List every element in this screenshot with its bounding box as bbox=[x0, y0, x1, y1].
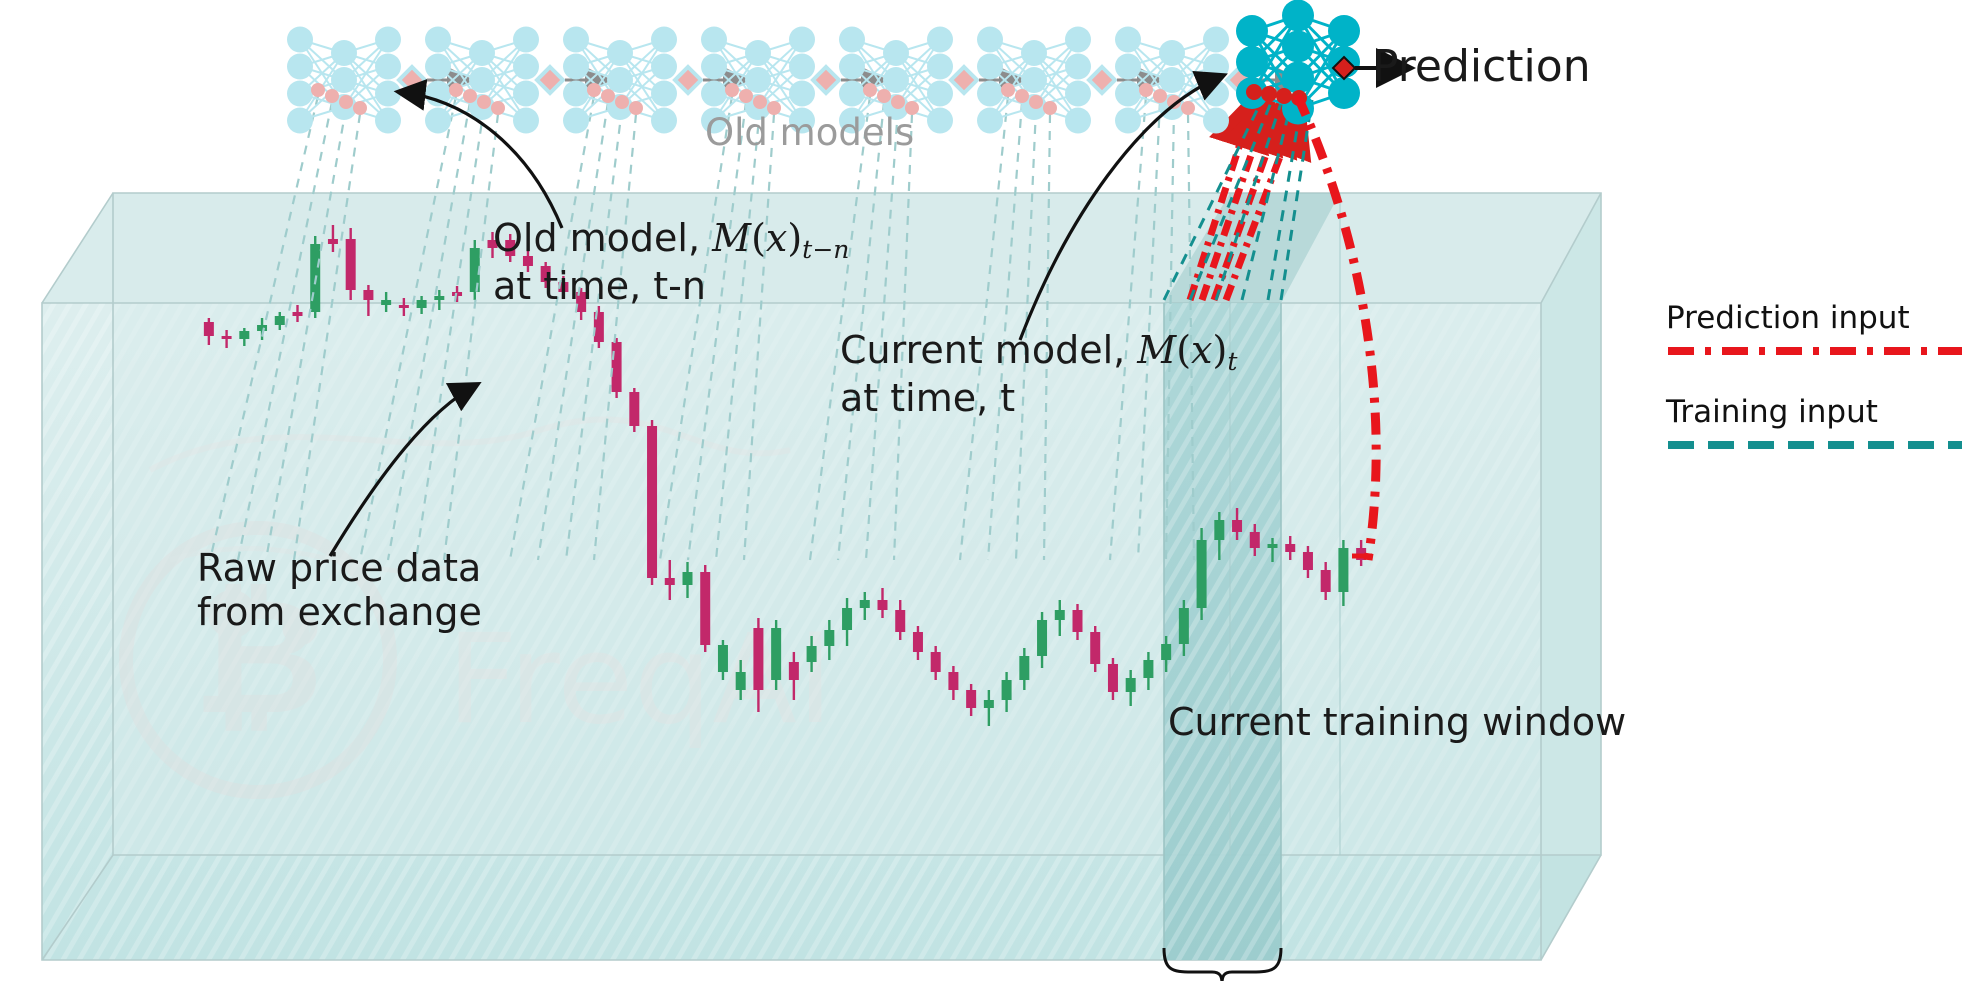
candle-body bbox=[363, 290, 373, 300]
candle-body bbox=[984, 700, 994, 708]
network-node bbox=[513, 54, 539, 80]
current-training-window-label: Current training window bbox=[1168, 700, 1626, 744]
diagram-svg: ₿ FreqAI bbox=[0, 0, 1966, 981]
candle-body bbox=[647, 426, 657, 578]
model-output-diamond bbox=[951, 67, 977, 93]
network-node bbox=[331, 40, 357, 66]
old-models-label: Old models bbox=[705, 112, 914, 155]
network-node bbox=[563, 108, 589, 134]
network-node bbox=[1159, 40, 1185, 66]
candle-body bbox=[771, 628, 781, 680]
network-node bbox=[789, 27, 815, 53]
network-node bbox=[513, 108, 539, 134]
network-node bbox=[1065, 54, 1091, 80]
network-input-dot bbox=[311, 83, 325, 97]
network-input-dot bbox=[325, 89, 339, 103]
candle-body bbox=[1108, 664, 1118, 692]
current-network-node bbox=[1328, 77, 1360, 109]
candle-body bbox=[718, 645, 728, 672]
candle-body bbox=[1161, 644, 1171, 660]
candle-body bbox=[1090, 632, 1100, 664]
network-node bbox=[1115, 81, 1141, 107]
network-node bbox=[789, 54, 815, 80]
current-model-text-a: Current model, bbox=[840, 328, 1137, 372]
prediction-label: Prediction bbox=[1372, 41, 1591, 92]
current-network-node bbox=[1236, 15, 1268, 47]
candle-body bbox=[1002, 680, 1012, 700]
old-model-math-sub: t−n bbox=[802, 235, 849, 264]
network-node bbox=[977, 108, 1003, 134]
current-network-node bbox=[1282, 31, 1314, 63]
raw-price-annotation: Raw price data from exchange bbox=[197, 546, 482, 634]
current-model-math-paren-close: ) bbox=[1212, 328, 1227, 372]
network-node bbox=[927, 81, 953, 107]
candle-body bbox=[293, 312, 303, 316]
network-input-dot bbox=[339, 95, 353, 109]
model-output-diamond bbox=[813, 67, 839, 93]
network-node bbox=[1065, 27, 1091, 53]
network-node bbox=[883, 67, 909, 93]
network-input-dot bbox=[877, 89, 891, 103]
network-node bbox=[287, 81, 313, 107]
network-node bbox=[701, 81, 727, 107]
network-node bbox=[701, 27, 727, 53]
candle-body bbox=[1321, 570, 1331, 592]
network-node bbox=[883, 40, 909, 66]
candle-body bbox=[824, 630, 834, 646]
current-model-math-M: M bbox=[1137, 328, 1176, 372]
candle-body bbox=[1143, 660, 1153, 678]
network-input-dot bbox=[1029, 95, 1043, 109]
network-node bbox=[1203, 54, 1229, 80]
model-output-diamond bbox=[537, 67, 563, 93]
network-input-dot bbox=[753, 95, 767, 109]
network-input-dot bbox=[1043, 101, 1057, 115]
network-node bbox=[1203, 27, 1229, 53]
network-node bbox=[563, 81, 589, 107]
network-node bbox=[651, 27, 677, 53]
network-input-dot bbox=[1015, 89, 1029, 103]
network-node bbox=[287, 54, 313, 80]
network-input-dot bbox=[601, 89, 615, 103]
current-network-node bbox=[1236, 46, 1268, 78]
candle-body bbox=[328, 239, 338, 244]
model-output-diamond bbox=[399, 67, 425, 93]
current-network-node bbox=[1282, 0, 1314, 32]
network-node bbox=[839, 81, 865, 107]
candle-body bbox=[753, 628, 763, 690]
old-model-math-x: x bbox=[766, 216, 787, 260]
network-node bbox=[1065, 108, 1091, 134]
candle-body bbox=[878, 600, 888, 610]
network-node bbox=[745, 67, 771, 93]
network-node bbox=[375, 27, 401, 53]
network-node bbox=[1021, 40, 1047, 66]
candle-body bbox=[807, 646, 817, 662]
candle-body bbox=[1179, 608, 1189, 644]
network-node bbox=[331, 67, 357, 93]
network-node bbox=[977, 54, 1003, 80]
network-node bbox=[1021, 67, 1047, 93]
network-node bbox=[1203, 108, 1229, 134]
candle-body bbox=[895, 610, 905, 632]
candle-body bbox=[1268, 544, 1278, 548]
network-node bbox=[651, 54, 677, 80]
network-node bbox=[1115, 27, 1141, 53]
current-model-time-line: at time, t bbox=[840, 376, 1237, 420]
network-node bbox=[977, 81, 1003, 107]
network-node bbox=[375, 54, 401, 80]
legend-label-prediction-input: Prediction input bbox=[1666, 300, 1910, 336]
candle-body bbox=[612, 342, 622, 392]
network-node bbox=[469, 40, 495, 66]
network-node bbox=[425, 54, 451, 80]
network-input-dot bbox=[891, 95, 905, 109]
network-input-dot bbox=[1139, 83, 1153, 97]
network-node bbox=[425, 27, 451, 53]
candle-body bbox=[966, 690, 976, 708]
network-input-dot bbox=[615, 95, 629, 109]
candle-body bbox=[346, 239, 356, 290]
candle-body bbox=[1232, 520, 1242, 532]
network-node bbox=[287, 108, 313, 134]
network-input-dot bbox=[629, 101, 643, 115]
network-node bbox=[839, 27, 865, 53]
candle-body bbox=[1019, 656, 1029, 680]
network-node bbox=[469, 67, 495, 93]
legend-item-prediction-input: Prediction input bbox=[1666, 300, 1966, 362]
raw-price-line-1: Raw price data bbox=[197, 546, 482, 590]
candle-body bbox=[789, 662, 799, 680]
network-node bbox=[1115, 108, 1141, 134]
network-node bbox=[977, 27, 1003, 53]
candle-body bbox=[434, 296, 444, 300]
candle-body bbox=[222, 336, 232, 339]
network-input-dot bbox=[1181, 101, 1195, 115]
model-output-diamond bbox=[1089, 67, 1115, 93]
old-model-annotation: Old model, M(x)t−n at time, t-n bbox=[493, 216, 849, 308]
legend-swatch-prediction-input bbox=[1666, 342, 1966, 360]
candle-body bbox=[948, 672, 958, 690]
prediction-input-dot bbox=[1246, 84, 1262, 100]
candle-body bbox=[1338, 548, 1348, 592]
old-model-math-M: M bbox=[712, 216, 751, 260]
box-back-face bbox=[113, 193, 1601, 855]
current-model-math-paren-open: ( bbox=[1176, 328, 1191, 372]
network-node bbox=[563, 54, 589, 80]
network-node bbox=[563, 27, 589, 53]
network-node bbox=[425, 108, 451, 134]
network-node bbox=[927, 27, 953, 53]
network-input-dot bbox=[463, 89, 477, 103]
candle-body bbox=[1197, 540, 1207, 608]
model-output-diamond bbox=[675, 67, 701, 93]
candle-body bbox=[381, 300, 391, 305]
candle-body bbox=[239, 331, 249, 339]
raw-price-line-2: from exchange bbox=[197, 590, 482, 634]
network-node bbox=[701, 54, 727, 80]
old-model-text-a: Old model, bbox=[493, 216, 712, 260]
candle-body bbox=[700, 572, 710, 645]
network-node bbox=[513, 81, 539, 107]
candle-body bbox=[1055, 610, 1065, 620]
network-input-dot bbox=[449, 83, 463, 97]
legend-item-training-input: Training input bbox=[1666, 394, 1966, 456]
network-input-dot bbox=[353, 101, 367, 115]
network-node bbox=[1115, 54, 1141, 80]
candle-body bbox=[1214, 520, 1224, 540]
network-node bbox=[789, 81, 815, 107]
old-model-math-paren-close: ) bbox=[787, 216, 802, 260]
network-input-dot bbox=[739, 89, 753, 103]
network-node bbox=[651, 81, 677, 107]
network-node bbox=[607, 40, 633, 66]
network-node bbox=[927, 54, 953, 80]
current-model-math-sub: t bbox=[1227, 347, 1237, 376]
network-node bbox=[513, 27, 539, 53]
network-node bbox=[375, 81, 401, 107]
network-node bbox=[375, 108, 401, 134]
candle-body bbox=[629, 392, 639, 426]
legend: Prediction input Training input bbox=[1666, 300, 1966, 456]
candle-body bbox=[860, 600, 870, 608]
network-node bbox=[745, 40, 771, 66]
network-node bbox=[287, 27, 313, 53]
candle-body bbox=[1250, 532, 1260, 548]
candle-body bbox=[736, 672, 746, 690]
candle-body bbox=[665, 578, 675, 585]
candle-body bbox=[913, 632, 923, 652]
legend-swatch-training-input bbox=[1666, 436, 1966, 454]
network-node bbox=[927, 108, 953, 134]
candle-body bbox=[683, 572, 693, 585]
network-input-dot bbox=[1153, 89, 1167, 103]
network-node bbox=[1065, 81, 1091, 107]
candle-body bbox=[1037, 620, 1047, 656]
current-network-node bbox=[1328, 15, 1360, 47]
candle-body bbox=[204, 322, 214, 336]
candle-body bbox=[1073, 610, 1083, 632]
old-model-math-paren-open: ( bbox=[751, 216, 766, 260]
old-model-time-line: at time, t-n bbox=[493, 264, 849, 308]
prediction-input-dot bbox=[1261, 86, 1277, 102]
candle-body bbox=[931, 652, 941, 672]
network-node bbox=[839, 54, 865, 80]
network-input-dot bbox=[725, 83, 739, 97]
network-node bbox=[1159, 67, 1185, 93]
legend-label-training-input: Training input bbox=[1666, 394, 1878, 430]
network-input-dot bbox=[863, 83, 877, 97]
candle-body bbox=[399, 305, 409, 308]
network-input-dot bbox=[477, 95, 491, 109]
candle-body bbox=[842, 608, 852, 630]
current-model-math-x: x bbox=[1191, 328, 1212, 372]
candle-body bbox=[417, 300, 427, 308]
network-input-dot bbox=[491, 101, 505, 115]
prediction-input-dot bbox=[1276, 88, 1292, 104]
diagram-canvas: ₿ FreqAI bbox=[0, 0, 1966, 981]
network-input-dot bbox=[1001, 83, 1015, 97]
network-node bbox=[651, 108, 677, 134]
network-input-dot bbox=[587, 83, 601, 97]
candle-body bbox=[257, 325, 267, 331]
current-model-annotation: Current model, M(x)t at time, t bbox=[840, 328, 1237, 420]
candle-body bbox=[1285, 544, 1295, 552]
network-node bbox=[607, 67, 633, 93]
candle-body bbox=[1303, 552, 1313, 570]
candle-body bbox=[1126, 678, 1136, 692]
candle-body bbox=[275, 316, 285, 325]
